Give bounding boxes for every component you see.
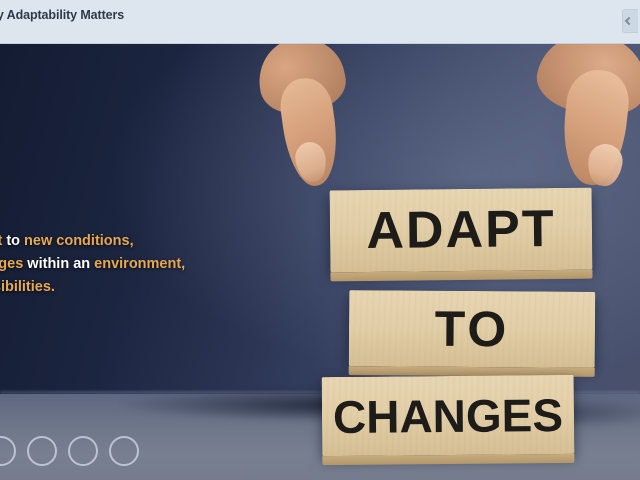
page-header: Briefs® Why Adaptability Matters ion xyxy=(0,0,640,44)
carousel-dot[interactable] xyxy=(109,436,139,466)
hero-caption-line-1: bility to adjust to new conditions, xyxy=(0,230,324,253)
carousel-pagination xyxy=(0,436,139,466)
wooden-block-changes-text: CHANGES xyxy=(333,391,563,439)
hero-banner[interactable]: ADAPT TO CHANGES bility to adjust to new… xyxy=(0,44,640,480)
hero-caption-line-2: nges, or changes within an environment, xyxy=(0,253,324,276)
right-hand xyxy=(518,44,640,179)
caption-run: changes xyxy=(0,256,23,272)
wooden-block-adapt: ADAPT xyxy=(330,188,593,273)
hero-caption-line-3: or responsibilities. xyxy=(0,276,324,299)
wooden-block-to-text: TO xyxy=(435,304,510,355)
hero-caption: bility to adjust to new conditions, nges… xyxy=(0,230,324,299)
header-collapse-button[interactable] xyxy=(622,9,638,33)
carousel-dot[interactable] xyxy=(68,436,98,466)
chevron-left-icon xyxy=(625,17,633,25)
left-hand xyxy=(258,44,356,168)
carousel-dot[interactable] xyxy=(27,436,57,466)
wooden-block-adapt-text: ADAPT xyxy=(366,203,556,257)
caption-run: environment, xyxy=(94,256,185,272)
header-text-group: Briefs® Why Adaptability Matters ion xyxy=(0,4,124,42)
caption-run: within an xyxy=(23,256,94,272)
wooden-block-to: TO xyxy=(349,290,596,368)
page-title: Briefs® Why Adaptability Matters xyxy=(0,4,124,23)
carousel-dot[interactable] xyxy=(0,436,16,466)
caption-run: responsibilities. xyxy=(0,279,55,295)
wooden-block-changes: CHANGES xyxy=(322,375,575,456)
page-title-rest: Why Adaptability Matters xyxy=(0,8,124,22)
caption-run: new conditions, xyxy=(24,233,134,249)
page-root: Briefs® Why Adaptability Matters ion ADA… xyxy=(0,0,640,480)
page-subtitle: ion xyxy=(0,25,124,42)
wooden-block-adapt-edge xyxy=(330,270,592,282)
caption-run: to xyxy=(2,233,24,249)
